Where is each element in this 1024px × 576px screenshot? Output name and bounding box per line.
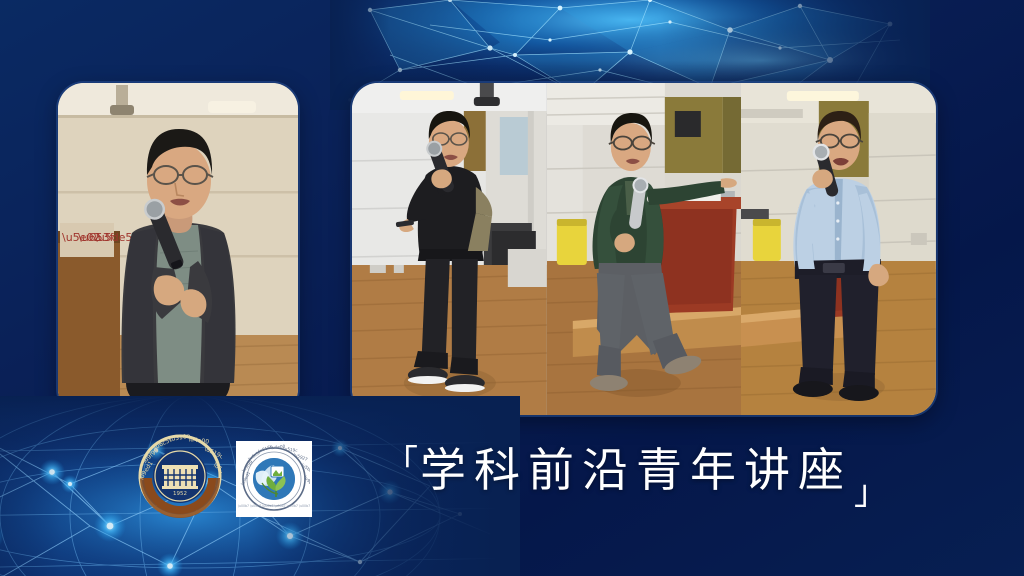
- svg-text:\u519c: \u519c: [203, 445, 222, 460]
- title-open-bracket: 「: [384, 446, 418, 480]
- institute-logo: \u9ed1 \u9f99 \u6c5f \u516b \u4e00 \u519…: [236, 441, 312, 517]
- speaker-photo-2: [547, 83, 742, 415]
- slide-title: 「 学科前沿青年讲座 」: [384, 442, 888, 514]
- speaker-photo-main: \u5e02\u653f\u5de5: [58, 83, 298, 415]
- speaker-photo-2-scene: [547, 83, 742, 415]
- page-title: 学科前沿青年讲座: [420, 442, 852, 498]
- svg-text:\u4e00: \u4e00: [188, 436, 210, 446]
- speaker-photo-1-scene: [352, 83, 547, 415]
- svg-text:\u00b7 \u00b7 \u00b7 \u00b7 \u: \u00b7 \u00b7 \u00b7 \u00b7 \u00b7 \u00b…: [238, 504, 310, 508]
- title-close-bracket: 」: [854, 476, 888, 510]
- speaker-photo-3: [741, 83, 936, 415]
- speaker-photo-group: [352, 83, 936, 415]
- speaker-photo-3-scene: [741, 83, 936, 415]
- speaker-photo-1: [352, 83, 547, 415]
- svg-text:\u5de5: \u5de5: [94, 231, 132, 244]
- university-seal-year: 1952: [173, 491, 187, 497]
- logo-row: 1952 \u9ed1 \u9f99 \u6c5f \u516b \u4e00 …: [138, 434, 312, 523]
- presentation-slide: \u5e02\u653f\u5de5: [0, 0, 1024, 576]
- speaker-photo-main-scene: \u5e02\u653f\u5de5: [58, 83, 298, 415]
- university-seal-logo: 1952 \u9ed1 \u9f99 \u6c5f \u516b \u4e00 …: [138, 434, 222, 523]
